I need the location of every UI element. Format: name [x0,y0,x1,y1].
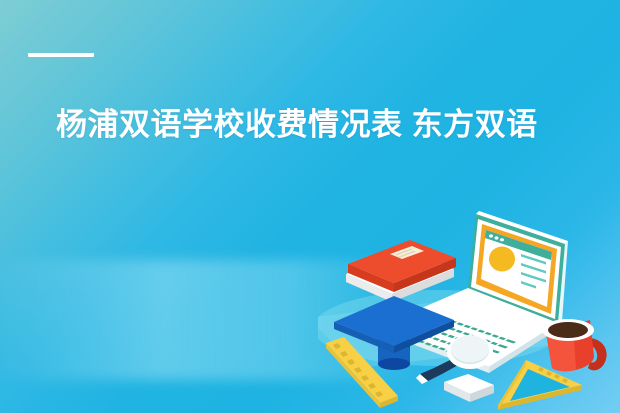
title-accent-dash [28,53,94,57]
avatar-circle [489,247,515,272]
eraser-icon [444,374,494,402]
page-title: 杨浦双语学校收费情况表 东方双语 [56,104,576,146]
education-illustration [318,178,620,413]
banner-root: 杨浦双语学校收费情况表 东方双语 [0,0,620,413]
coffee-mug-icon [542,319,607,371]
